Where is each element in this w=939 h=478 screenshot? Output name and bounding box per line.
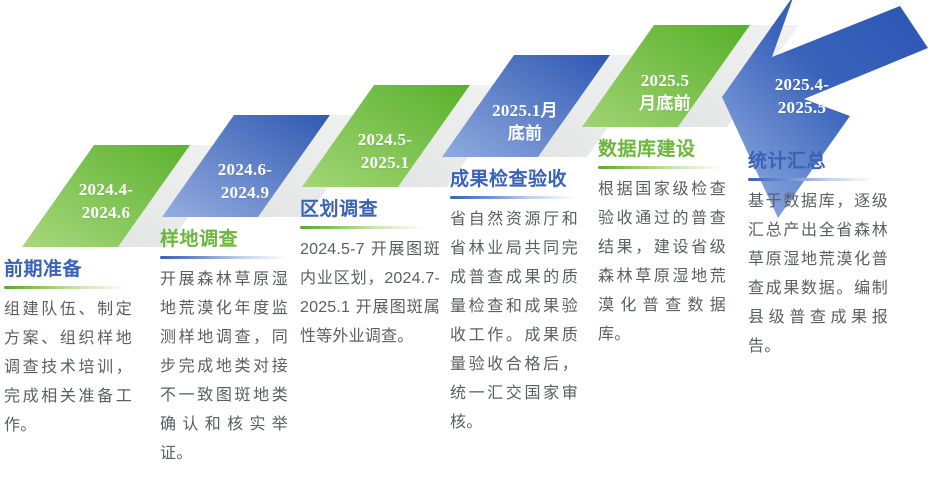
- step-date-6: 2025.4- 2025.5: [742, 73, 862, 119]
- step-date-4: 2025.1月 底前: [465, 99, 585, 145]
- step-title-6: 统计汇总: [748, 150, 888, 174]
- step-rule-3: [300, 226, 426, 229]
- step-date-2: 2024.6- 2024.9: [185, 158, 305, 204]
- step-date-1: 2024.4- 2024.6: [46, 178, 166, 224]
- step-body-6: 基于数据库，逐级汇总产出全省森林草原湿地荒漠化普查成果数据。编制县级普查成果报告…: [748, 187, 888, 361]
- step-column-4: 成果检查验收 省自然资源厅和省林业局共同完成普查成果的质量检查和成果验收工作。成…: [450, 168, 578, 437]
- step-column-6: 统计汇总 基于数据库，逐级汇总产出全省森林草原湿地荒漠化普查成果数据。编制县级普…: [748, 150, 888, 361]
- step-column-5: 数据库建设 根据国家级检查验收通过的普查结果，建设省级森林草原湿地荒漠化普查数据…: [598, 138, 726, 349]
- step-body-2: 开展森林草原湿地荒漠化年度监测样地调查，同步完成地类对接不一致图斑地类确认和核实…: [160, 265, 288, 468]
- step-title-3: 区划调查: [300, 198, 440, 222]
- process-timeline-diagram: 2024.4- 2024.6 2024.6- 2024.9 2024.5- 20…: [0, 0, 939, 478]
- step-body-3: 2024.5-7 开展图斑内业区划，2024.7-2025.1 开展图斑属性等外…: [300, 235, 440, 351]
- step-rule-1: [4, 286, 130, 289]
- step-body-4: 省自然资源厅和省林业局共同完成普查成果的质量检查和成果验收工作。成果质量验收合格…: [450, 205, 578, 437]
- step-rule-2: [160, 256, 286, 259]
- step-title-1: 前期准备: [4, 258, 132, 282]
- step-date-3: 2024.5- 2025.1: [325, 128, 445, 174]
- step-rule-4: [450, 196, 576, 199]
- step-title-4: 成果检查验收: [450, 168, 578, 192]
- step-title-2: 样地调查: [160, 228, 288, 252]
- step-date-5: 2025.5 月底前: [605, 69, 725, 115]
- step-column-3: 区划调查 2024.5-7 开展图斑内业区划，2024.7-2025.1 开展图…: [300, 198, 440, 351]
- step-column-1: 前期准备 组建队伍、制定方案、组织样地调查技术培训，完成相关准备工作。: [4, 258, 132, 440]
- step-body-5: 根据国家级检查验收通过的普查结果，建设省级森林草原湿地荒漠化普查数据库。: [598, 175, 726, 349]
- step-rule-5: [598, 166, 724, 169]
- step-rule-6: [748, 178, 874, 181]
- step-body-1: 组建队伍、制定方案、组织样地调查技术培训，完成相关准备工作。: [4, 295, 132, 440]
- step-column-2: 样地调查 开展森林草原湿地荒漠化年度监测样地调查，同步完成地类对接不一致图斑地类…: [160, 228, 288, 468]
- step-title-5: 数据库建设: [598, 138, 726, 162]
